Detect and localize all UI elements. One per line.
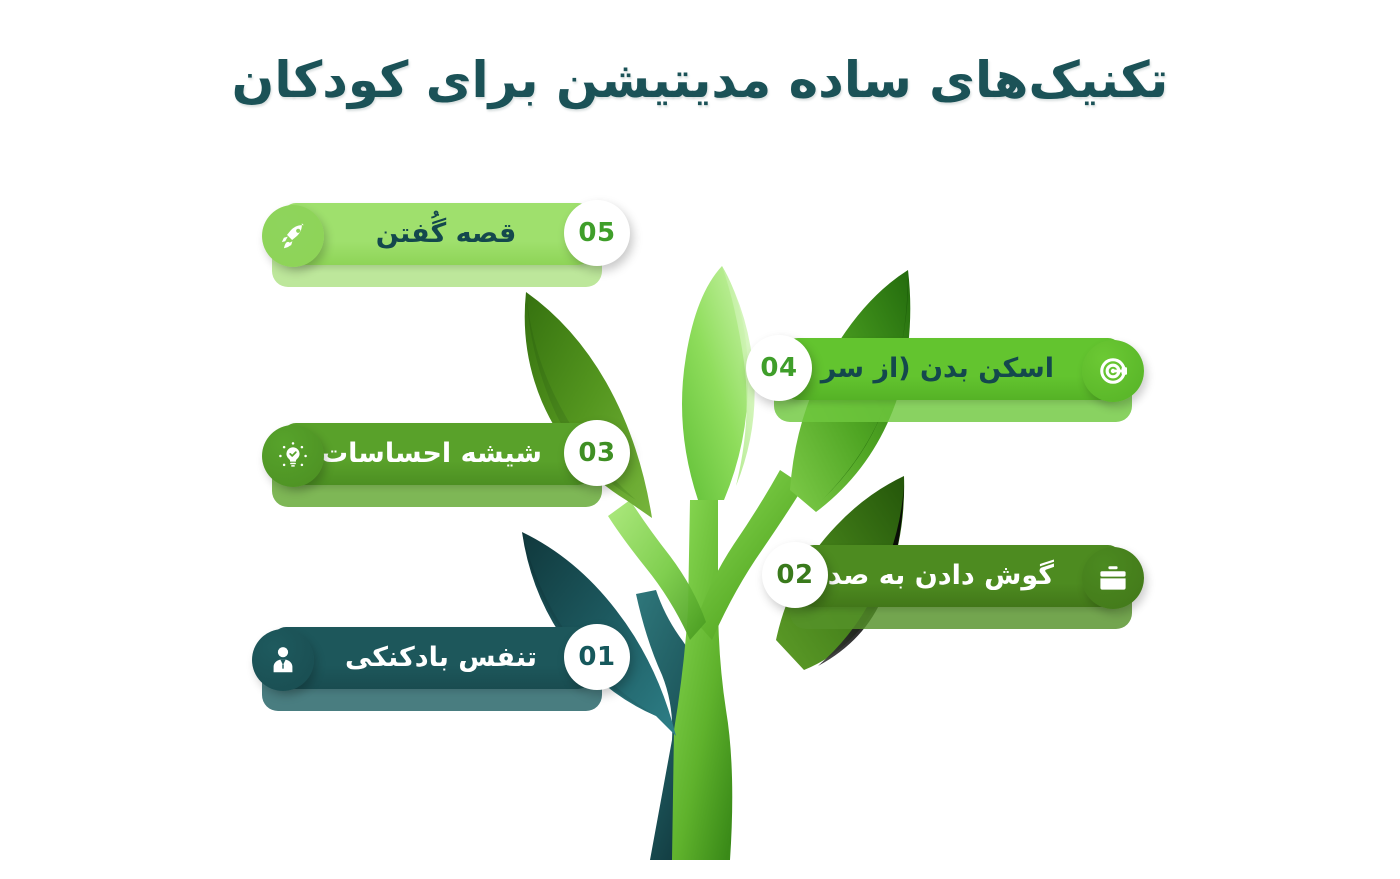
card-label: شیشه احساسات (311, 423, 552, 485)
page-title: تکنیک‌های ساده مدیتیشن برای کودکان (0, 48, 1400, 113)
card-number-badge: 05 (564, 200, 630, 266)
technique-card-04[interactable]: اسکن بدن (از سر تا پا) 04 (774, 338, 1132, 410)
infographic-canvas: تکنیک‌های ساده مدیتیشن برای کودکان (0, 0, 1400, 879)
card-number-badge: 04 (746, 335, 812, 401)
card-bar: گوش دادن به صداها (800, 545, 1122, 607)
technique-card-03[interactable]: شیشه احساسات 03 (272, 423, 602, 495)
technique-card-02[interactable]: گوش دادن به صداها 02 (790, 545, 1132, 617)
target-icon (1082, 340, 1144, 402)
card-number-badge: 02 (762, 542, 828, 608)
lightbulb-icon (262, 425, 324, 487)
card-label: قصه گُفتن (340, 203, 552, 265)
card-bar: تنفس بادکنکی (272, 627, 592, 689)
card-bar: قصه گُفتن (282, 203, 592, 265)
card-bar: اسکن بدن (از سر تا پا) (784, 338, 1122, 400)
person-icon (252, 629, 314, 691)
card-label: تنفس بادکنکی (330, 627, 552, 689)
briefcase-icon (1082, 547, 1144, 609)
card-number-badge: 03 (564, 420, 630, 486)
technique-card-01[interactable]: تنفس بادکنکی 01 (262, 627, 602, 699)
rocket-icon (262, 205, 324, 267)
card-number-badge: 01 (564, 624, 630, 690)
technique-card-05[interactable]: قصه گُفتن 05 (272, 203, 602, 275)
card-bar: شیشه احساسات (282, 423, 592, 485)
